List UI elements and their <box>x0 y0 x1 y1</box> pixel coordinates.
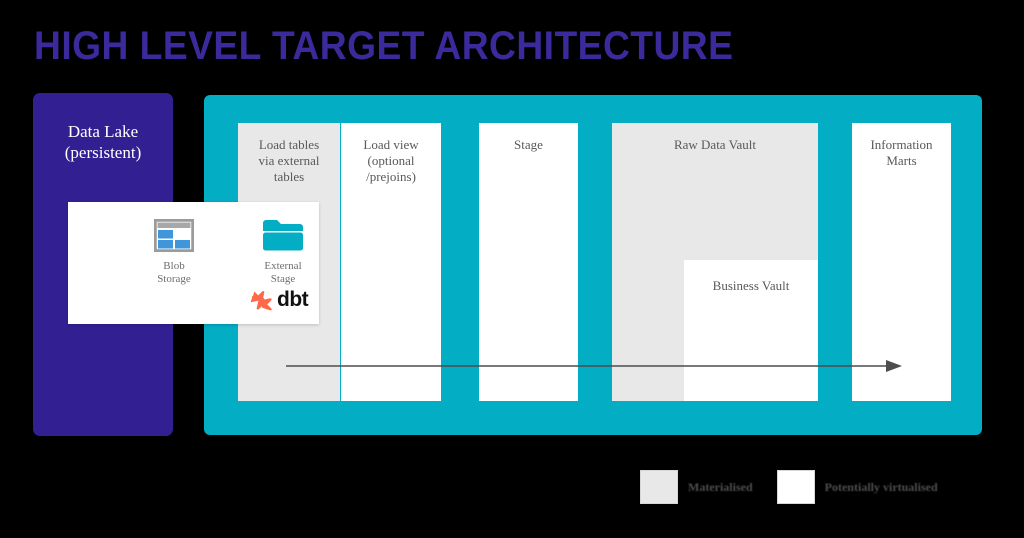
tool-external-stage-label: External Stage <box>247 260 319 286</box>
data-lake-label-line2: (persistent) <box>33 142 173 163</box>
dbt-mark-icon <box>251 289 273 311</box>
folder-icon <box>247 214 319 256</box>
legend-item-materialised: Materialised <box>640 470 753 504</box>
architecture-diagram: HIGH LEVEL TARGET ARCHITECTURE Data Lake… <box>0 0 1024 538</box>
legend: Materialised Potentially virtualised <box>640 470 938 504</box>
dbt-wordmark: dbt <box>277 288 308 312</box>
page-title: HIGH LEVEL TARGET ARCHITECTURE <box>34 24 733 69</box>
column-stage-label: Stage <box>479 137 578 153</box>
column-business-vault: Business Vault <box>684 260 818 401</box>
column-information-marts-label: Information Marts <box>852 137 951 169</box>
tool-blob-storage: Blob Storage <box>138 214 210 286</box>
column-information-marts: Information Marts <box>852 123 951 401</box>
legend-item-virtualised: Potentially virtualised <box>777 470 938 504</box>
blob-storage-icon <box>138 214 210 256</box>
legend-label-virtualised: Potentially virtualised <box>825 480 938 495</box>
data-lake-label: Data Lake (persistent) <box>33 121 173 163</box>
column-load-view-label: Load view (optional /prejoins) <box>341 137 441 185</box>
tool-external-stage: External Stage <box>247 214 319 286</box>
legend-label-materialised: Materialised <box>688 480 753 495</box>
data-lake-label-line1: Data Lake <box>33 121 173 142</box>
tooling-card: Blob Storage External Stage dbt <box>68 202 319 324</box>
legend-swatch-materialised <box>640 470 678 504</box>
column-load-view: Load view (optional /prejoins) <box>341 123 441 401</box>
column-raw-data-vault-label: Raw Data Vault <box>612 137 818 153</box>
column-load-tables-label: Load tables via external tables <box>238 137 340 185</box>
tool-blob-storage-label: Blob Storage <box>138 260 210 286</box>
column-business-vault-label: Business Vault <box>684 278 818 294</box>
column-stage: Stage <box>479 123 578 401</box>
legend-swatch-virtualised <box>777 470 815 504</box>
dbt-logo: dbt <box>251 288 308 312</box>
